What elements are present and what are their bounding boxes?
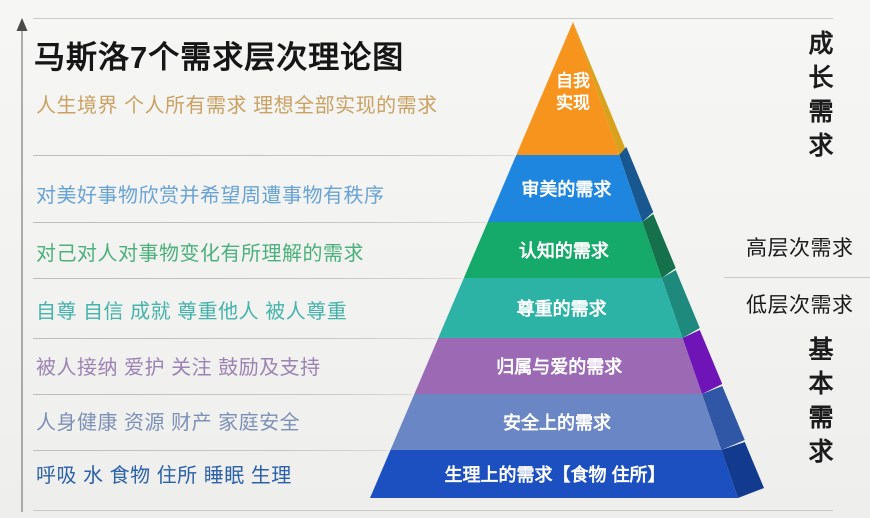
row-divider-6: [33, 450, 388, 451]
pyramid-tier-7-face: [370, 450, 738, 498]
row-divider-3: [33, 278, 462, 279]
pyramid-tier-6-face: [390, 394, 721, 450]
description-row-7: 呼吸 水 食物 住所 睡眠 生理: [36, 459, 292, 488]
pyramid-tier-2-side: [619, 147, 653, 222]
upward-arrow-icon: [15, 18, 29, 512]
right-label-low-level-need: 低层次需求: [746, 289, 854, 319]
pyramid-tier-3-side: [642, 214, 675, 278]
pyramid-tier-6-label: 安全上的需求: [503, 412, 612, 433]
pyramid-tier-1-side: [573, 22, 626, 155]
row-divider-1: [33, 155, 514, 156]
description-row-2: 对美好事物欣赏并希望周遭事物有秩序: [36, 179, 385, 208]
pyramid-tier-6-side: [702, 386, 745, 450]
description-row-4: 自尊 自信 成就 尊重他人 被人尊重: [36, 295, 347, 324]
pyramid-tier-3-label: 认知的需求: [519, 240, 610, 261]
description-row-5: 被人接纳 爱护 关注 鼓励及支持: [36, 351, 321, 380]
top-rule: [33, 18, 833, 19]
pyramid-tier-3-face: [464, 222, 662, 278]
bottom-rule: [33, 510, 833, 511]
pyramid-tier-7-label: 生理上的需求【食物 住所】: [444, 464, 665, 485]
right-label-growth-need: 成长需求: [806, 30, 831, 166]
pyramid-tier-4-side: [662, 270, 700, 338]
pyramid-tier-1-face: [516, 22, 619, 155]
row-divider-4: [33, 338, 436, 339]
pyramid-tier-1-label-line2: 实现: [556, 93, 590, 113]
pyramid-tier-7-side: [721, 442, 764, 498]
page-title: 马斯洛7个需求层次理论图: [34, 32, 404, 77]
description-row-3: 对己对人对事物变化有所理解的需求: [36, 237, 364, 266]
right-label-basic-need: 基本需求: [806, 336, 831, 472]
pyramid-tier-2-label: 审美的需求: [521, 179, 612, 200]
row-divider-2: [33, 222, 486, 223]
pyramid-tier-4-label: 尊重的需求: [517, 298, 608, 319]
pyramid-tier-5-side: [683, 330, 723, 394]
pyramid-tier-1-label-line1: 自我: [556, 71, 590, 91]
description-row-6: 人身健康 资源 财产 家庭安全: [36, 406, 300, 435]
right-rule-divider: [724, 277, 870, 278]
pyramid-tier-5-label: 归属与爱的需求: [496, 356, 623, 377]
diagram-canvas: 马斯洛7个需求层次理论图 人生境界 个人所有需求 理想全部实现的需求对美好事物欣…: [0, 0, 870, 518]
description-row-1: 人生境界 个人所有需求 理想全部实现的需求: [36, 89, 438, 118]
row-divider-5: [33, 394, 412, 395]
right-label-high-level-need: 高层次需求: [746, 232, 854, 262]
pyramid-tier-5-face: [414, 338, 702, 394]
pyramid-tier-2-face: [488, 155, 643, 222]
pyramid-tier-4-face: [438, 278, 682, 338]
